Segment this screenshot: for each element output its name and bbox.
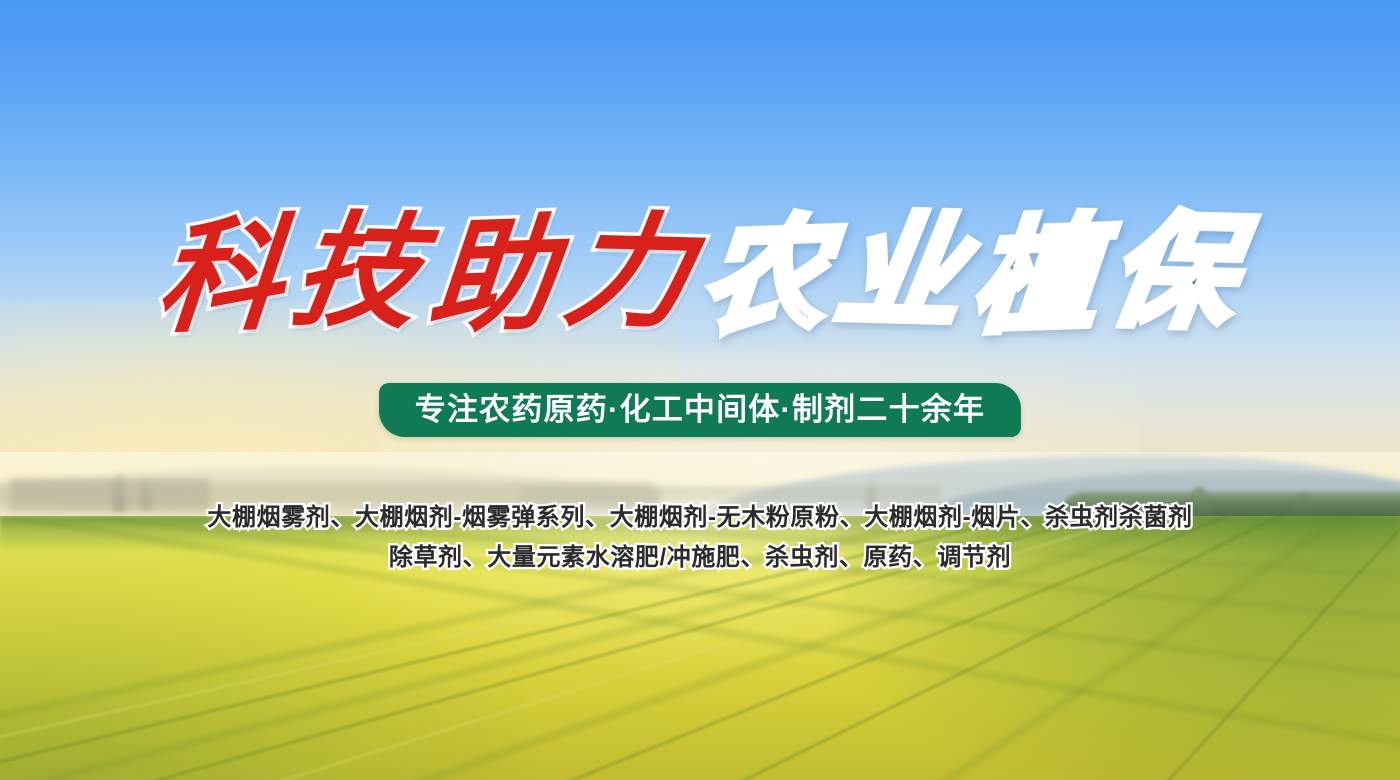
product-line-1: 大棚烟雾剂、大棚烟剂-烟雾弹系列、大棚烟剂-无木粉原粉、大棚烟剂-烟片、杀虫剂杀… <box>0 498 1400 538</box>
headline-char-3: 助 <box>421 204 570 351</box>
hero-banner: 科技助力农业植保 专注农药原药·化工中间体·制剂二十余年 大棚烟雾剂、大棚烟剂-… <box>0 0 1400 780</box>
product-line-2: 除草剂、大量元素水溶肥/冲施肥、杀虫剂、原药、调节剂 <box>0 538 1400 578</box>
headline-char-4: 力 <box>554 200 711 346</box>
headline-char-6: 业 <box>826 200 983 346</box>
headline-char-7: 植 <box>966 204 1115 351</box>
banner-headline: 科技助力农业植保 <box>0 206 1400 348</box>
product-list: 大棚烟雾剂、大棚烟剂-烟雾弹系列、大棚烟剂-无木粉原粉、大棚烟剂-烟片、杀虫剂杀… <box>0 498 1400 578</box>
headline-char-1: 科 <box>149 204 298 351</box>
subtitle-badge: 专注农药原药·化工中间体·制剂二十余年 <box>379 383 1021 437</box>
headline-char-8: 保 <box>1098 200 1255 346</box>
headline-char-5: 农 <box>694 204 843 351</box>
headline-text: 科技助力农业植保 <box>156 206 1244 348</box>
headline-char-2: 技 <box>282 200 439 346</box>
subtitle-badge-wrapper: 专注农药原药·化工中间体·制剂二十余年 <box>0 383 1400 437</box>
field-shadow-left <box>0 560 520 780</box>
